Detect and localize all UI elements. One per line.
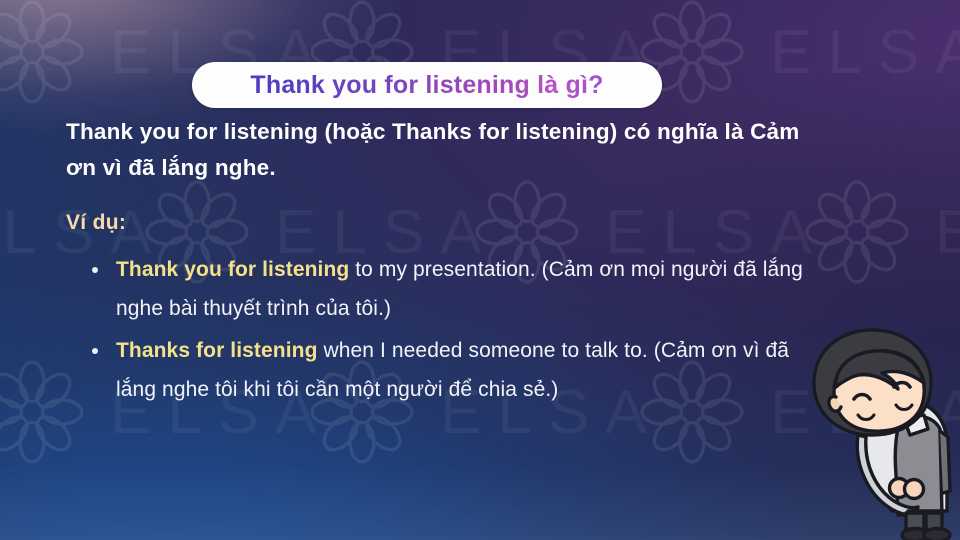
page-title: Thank you for listening là gì?	[250, 71, 603, 100]
list-item: Thanks for listening when I needed someo…	[84, 331, 814, 410]
title-pill: Thank you for listening là gì?	[192, 62, 662, 108]
bowing-person-illustration	[800, 325, 960, 540]
bullet-highlight: Thank you for listening	[116, 258, 349, 281]
slide-canvas: ELSAELSAELSAELSAELSAELSAELSAELSAELSAELSA…	[0, 0, 960, 540]
bullet-highlight: Thanks for listening	[116, 339, 318, 362]
bullet-dot-icon	[92, 348, 98, 354]
lead-paragraph: Thank you for listening (hoặc Thanks for…	[66, 114, 826, 187]
example-label: Ví dụ:	[66, 211, 126, 235]
list-item: Thank you for listening to my presentati…	[84, 250, 814, 329]
bullet-dot-icon	[92, 267, 98, 273]
example-list: Thank you for listening to my presentati…	[84, 250, 814, 412]
